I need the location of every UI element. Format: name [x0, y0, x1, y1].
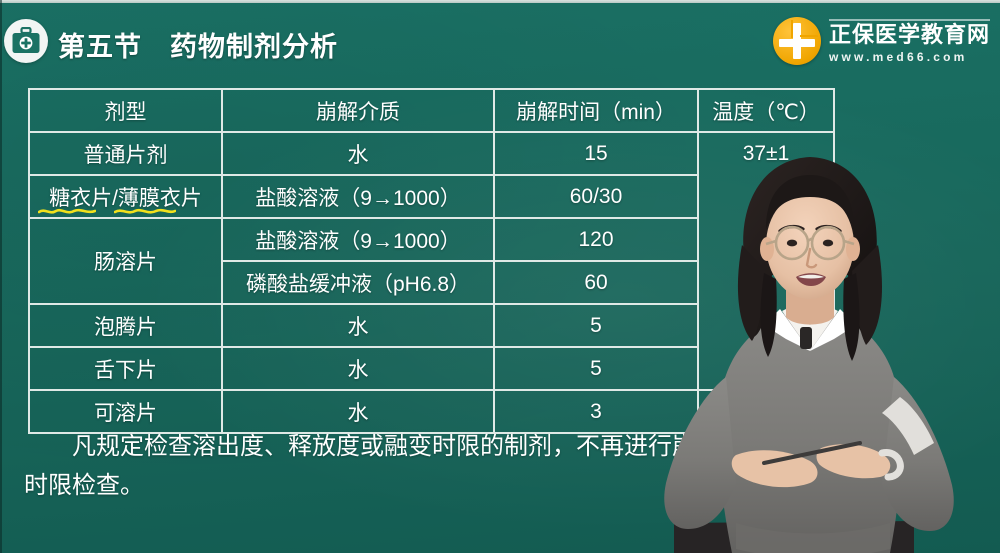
cell-dosage-form: 普通片剂: [29, 132, 222, 175]
cell-medium: 水: [222, 390, 494, 433]
cell-medium: 水: [222, 347, 494, 390]
brand-logo: 正保医学教育网 www.med66.com: [773, 13, 990, 69]
cell-dosage-form: 糖衣片/薄膜衣片: [29, 175, 222, 218]
brand-logo-text: 正保医学教育网 www.med66.com: [829, 19, 990, 63]
left-edge-seam: [0, 0, 2, 553]
top-edge-seam: [0, 0, 1000, 3]
cell-dosage-form: 肠溶片: [29, 218, 222, 304]
slide-header: 第五节 药物制剂分析 正保医学教育网 www.med66.com: [0, 3, 1000, 78]
cell-dosage-form: 舌下片: [29, 347, 222, 390]
cell-dosage-form: 可溶片: [29, 390, 222, 433]
presenter-video-figure: [614, 125, 1000, 553]
cell-medium: 水: [222, 304, 494, 347]
medical-kit-icon: [4, 19, 48, 63]
cell-medium: 盐酸溶液（9→1000）: [222, 175, 494, 218]
column-header-dosage-form: 剂型: [29, 89, 222, 132]
page-title: 第五节 药物制剂分析: [58, 25, 338, 64]
cell-medium: 盐酸溶液（9→1000）: [222, 218, 494, 261]
lecture-slide-frame: 第五节 药物制剂分析 正保医学教育网 www.med66.com 剂型 崩解介质…: [0, 0, 1000, 553]
cross-circle-logo-detail: [778, 22, 816, 60]
cell-dosage-form-label: 糖衣片/薄膜衣片: [49, 187, 202, 210]
cell-medium: 水: [222, 132, 494, 175]
cell-dosage-form: 泡腾片: [29, 304, 222, 347]
column-header-medium: 崩解介质: [222, 89, 494, 132]
brand-name: 正保医学教育网: [829, 19, 990, 46]
cell-medium: 磷酸盐缓冲液（pH6.8）: [222, 261, 494, 304]
cross-circle-logo-icon: [773, 17, 821, 65]
brand-url: www.med66.com: [829, 51, 990, 63]
